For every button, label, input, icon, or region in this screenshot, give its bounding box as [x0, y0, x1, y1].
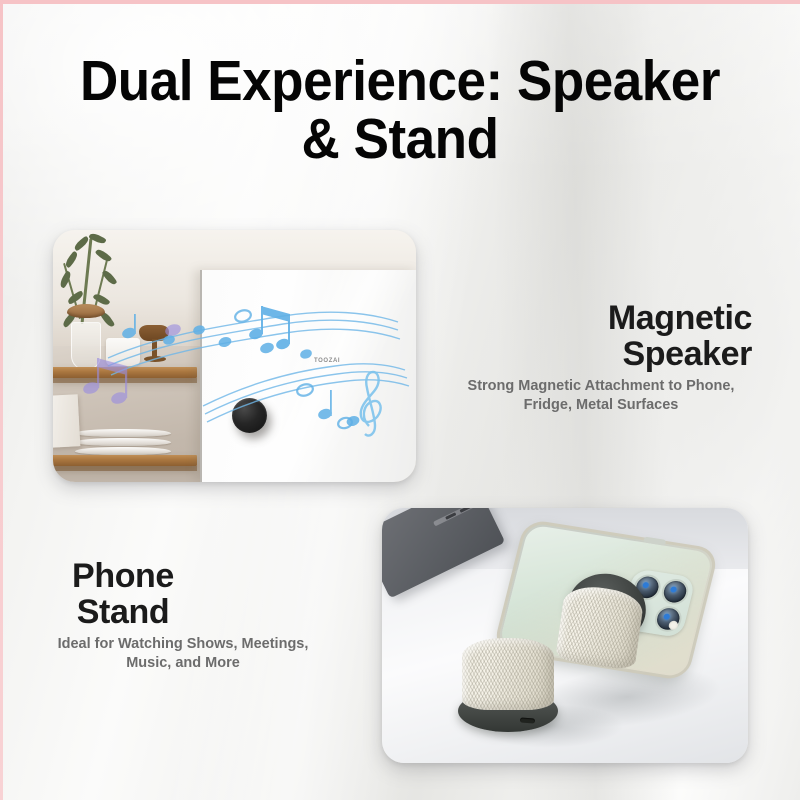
- stand-speaker-cone: [555, 583, 645, 671]
- accent-left-border: [0, 0, 3, 800]
- stacked-plate: [75, 429, 171, 437]
- feature-subtitle-line-1: Strong Magnetic Attachment to Phone,: [450, 377, 752, 396]
- camera-flash: [668, 620, 679, 630]
- stacked-plate: [75, 438, 171, 446]
- wooden-goblet-base: [144, 356, 166, 362]
- fridge-scene-photo: TOOZAI: [53, 230, 416, 482]
- wooden-shelf-upper: [53, 367, 197, 378]
- fridge-door: TOOZAI: [200, 270, 416, 482]
- poster-canvas: Dual Experience: Speaker & Stand: [0, 0, 800, 800]
- feature-subtitle-line-2: Fridge, Metal Surfaces: [450, 396, 752, 415]
- shelf-edge-lower: [53, 466, 197, 471]
- feature-subtitle: Ideal for Watching Shows, Meetings, Musi…: [18, 635, 348, 673]
- feature-title-line-1: Phone: [18, 558, 228, 594]
- photo-card-magnetic-speaker: TOOZAI: [53, 230, 416, 482]
- laptop-side-rail: [433, 508, 482, 526]
- feature-title-line-1: Magnetic: [422, 300, 752, 336]
- wooden-goblet-stem: [152, 339, 157, 357]
- glass-vase: [71, 322, 101, 370]
- brand-mark: TOOZAI: [314, 358, 340, 364]
- laptop-port: [460, 508, 471, 513]
- feature-title: Magnetic Speaker: [422, 300, 752, 372]
- feature-subtitle-line-1: Ideal for Watching Shows, Meetings,: [18, 635, 348, 654]
- speaker-mesh-fabric: [462, 638, 554, 710]
- feature-phone-stand: Phone Stand Ideal for Watching Shows, Me…: [18, 558, 348, 673]
- accent-top-border: [0, 0, 800, 4]
- feature-title-line-2: Speaker: [422, 336, 752, 372]
- stand-scene-photo: [382, 508, 748, 763]
- fridge-sheen: [202, 270, 416, 482]
- stacked-plate: [75, 447, 171, 455]
- wooden-shelf-lower: [53, 455, 197, 466]
- loose-speaker-cone: [462, 638, 554, 710]
- headline-line-1: Dual Experience: Speaker: [28, 52, 772, 110]
- feature-subtitle-line-2: Music, and More: [18, 654, 348, 673]
- ceramic-cup: [106, 338, 140, 366]
- speaker-mesh-fabric: [555, 583, 645, 671]
- photo-card-phone-stand: [382, 508, 748, 763]
- page-title: Dual Experience: Speaker & Stand: [0, 52, 800, 168]
- wooden-lid: [67, 304, 105, 318]
- feature-subtitle: Strong Magnetic Attachment to Phone, Fri…: [422, 377, 752, 415]
- feature-title: Phone Stand: [18, 558, 348, 630]
- camera-lens: [659, 577, 691, 606]
- usb-c-port: [520, 717, 535, 723]
- magnetic-speaker-device: [232, 398, 267, 433]
- camera-lens: [652, 604, 684, 633]
- book-stack: [53, 394, 80, 447]
- shelf-edge-upper: [53, 378, 197, 383]
- feature-magnetic-speaker: Magnetic Speaker Strong Magnetic Attachm…: [422, 300, 752, 415]
- headline-line-2: & Stand: [28, 110, 772, 168]
- feature-title-line-2: Stand: [18, 594, 228, 630]
